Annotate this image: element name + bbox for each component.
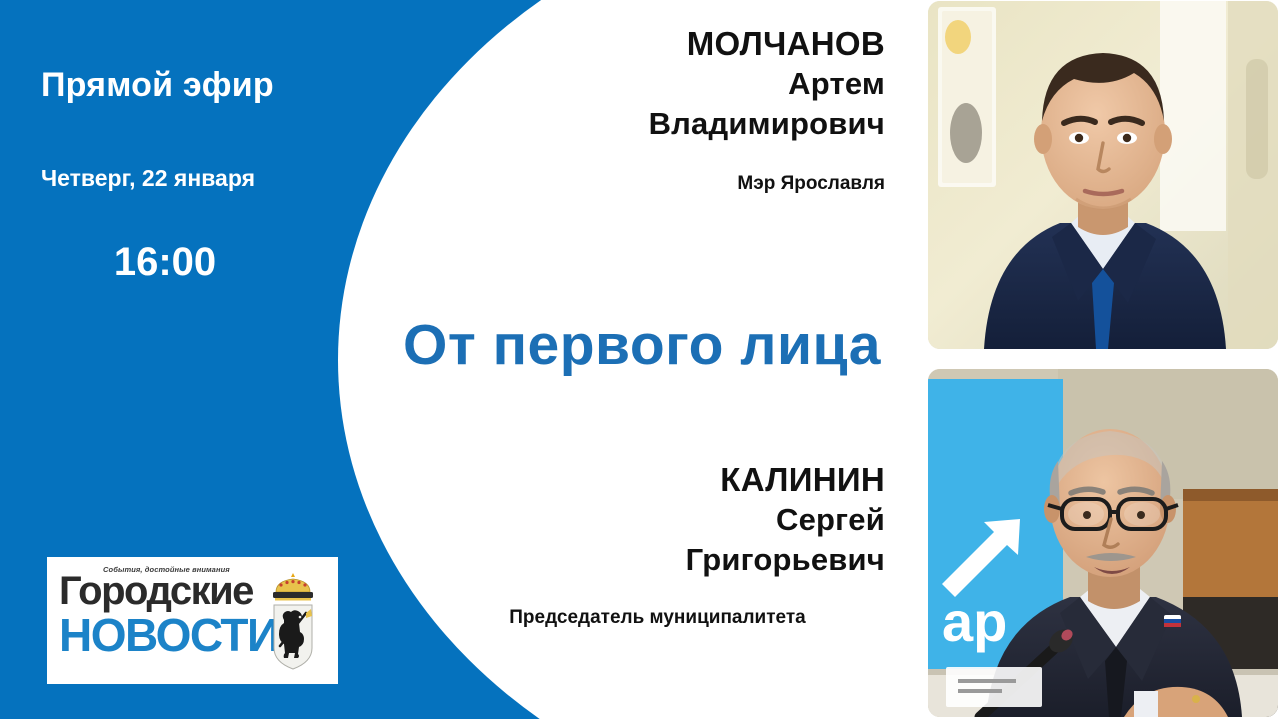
broadcast-time: 16:00 [41, 240, 289, 285]
photo-kalinin-illustration: ap [928, 369, 1278, 717]
guest-firstname: Артем [430, 64, 885, 104]
photo-molchanov-illustration [928, 1, 1278, 349]
guest-patronymic: Григорьевич [430, 540, 885, 580]
logo-word-novosti: НОВОСТИ [59, 612, 279, 658]
guest-firstname: Сергей [430, 500, 885, 540]
guest-block-kalinin: КАЛИНИН Сергей Григорьевич Председатель … [430, 460, 885, 630]
guest-block-molchanov: МОЛЧАНОВ Артем Владимирович Мэр Ярославл… [430, 24, 885, 196]
photo-molchanov [928, 1, 1278, 349]
gorodskie-novosti-logo: События, достойные внимания Городские НО… [47, 557, 338, 684]
logo-inner: События, достойные внимания Городские НО… [59, 564, 330, 677]
svg-text:ap: ap [942, 590, 1007, 653]
programme-title: От первого лица [352, 312, 932, 378]
guest-surname: КАЛИНИН [430, 460, 885, 500]
broadcast-date: Четверг, 22 января [41, 165, 255, 192]
yaroslavl-coat-of-arms-icon [262, 568, 324, 672]
guest-surname: МОЛЧАНОВ [430, 24, 885, 64]
broadcast-announcement-card: Прямой эфир Четверг, 22 января 16:00 Соб… [0, 0, 1280, 719]
photo-kalinin: ap [928, 369, 1278, 717]
guest-position: Председатель муниципалитета [430, 606, 885, 631]
guest-position: Мэр Ярославля [430, 172, 885, 197]
logo-word-gorodskie: Городские [59, 571, 253, 611]
live-broadcast-label: Прямой эфир [41, 66, 274, 105]
guest-patronymic: Владимирович [430, 104, 885, 144]
